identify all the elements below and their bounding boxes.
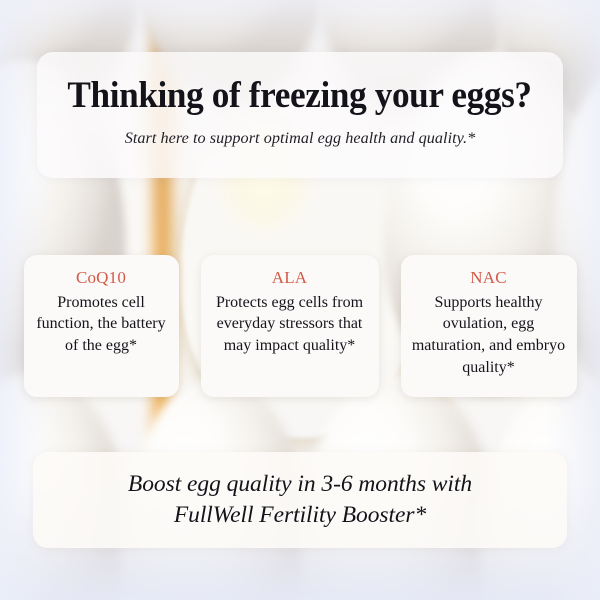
bottom-call-to-action-banner: Boost egg quality in 3-6 months with Ful… — [33, 452, 567, 548]
ingredient-title: CoQ10 — [31, 268, 172, 288]
page-subtitle: Start here to support optimal egg health… — [125, 129, 476, 148]
ingredient-card-ala: ALA Protects egg cells from everyday str… — [201, 255, 379, 397]
ingredient-card-coq10: CoQ10 Promotes cell function, the batter… — [24, 255, 179, 397]
ingredient-title: ALA — [208, 268, 372, 288]
poster-canvas: Thinking of freezing your eggs? Start he… — [0, 0, 600, 600]
page-title: Thinking of freezing your eggs? — [68, 76, 532, 115]
header-card: Thinking of freezing your eggs? Start he… — [37, 52, 563, 178]
ingredient-description: Supports healthy ovulation, egg maturati… — [408, 292, 570, 380]
ingredient-description: Protects egg cells from everyday stresso… — [208, 292, 372, 358]
ingredient-title: NAC — [408, 268, 570, 288]
banner-text-block: Boost egg quality in 3-6 months with Ful… — [128, 469, 472, 531]
banner-line-2: FullWell Fertility Booster* — [174, 502, 426, 528]
ingredient-card-nac: NAC Supports healthy ovulation, egg matu… — [401, 255, 577, 397]
ingredient-description: Promotes cell function, the battery of t… — [31, 292, 172, 358]
banner-line-1: Boost egg quality in 3-6 months with — [128, 471, 472, 497]
ingredient-card-row: CoQ10 Promotes cell function, the batter… — [0, 255, 600, 397]
